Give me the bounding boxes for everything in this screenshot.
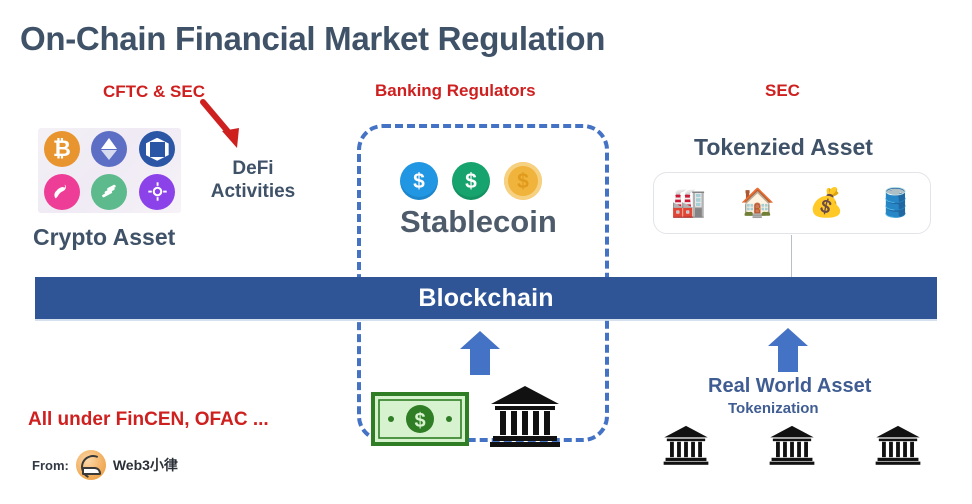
author-name: Web3小律 <box>113 455 178 475</box>
regulator-label-sec: SEC <box>765 81 800 101</box>
oil-pump-icon: 🛢️ <box>878 189 913 217</box>
stablecoin-green-icon: $ <box>452 162 490 200</box>
blockchain-bar: Blockchain <box>35 277 937 319</box>
real-world-asset-subtitle: Tokenization <box>728 400 819 417</box>
red-diagonal-arrow-icon <box>197 98 247 154</box>
defi-line-1: DeFi <box>205 157 301 180</box>
page-title: On-Chain Financial Market Regulation <box>20 20 605 58</box>
real-world-asset-bank-row <box>663 424 921 466</box>
house-icon: 🏠 <box>740 189 775 217</box>
crypto-asset-icon-grid: ₿ <box>38 128 181 213</box>
stablecoin-label: Stablecoin <box>400 204 557 240</box>
stablecoin-icon-row: $ $ $ <box>400 162 566 200</box>
gold-bars-icon: 💰 <box>809 189 844 217</box>
stablecoin-blue-icon: $ <box>400 162 438 200</box>
tokenized-asset-box: 🏭 🏠 💰 🛢️ <box>653 172 931 234</box>
author-avatar <box>76 450 106 480</box>
blue-up-arrow-icon-center <box>459 330 501 376</box>
real-world-asset-title: Real World Asset <box>708 375 871 398</box>
tokenized-asset-connector-line <box>791 235 792 279</box>
bank-building-icon-1 <box>663 424 709 466</box>
bank-building-icon-center <box>489 384 561 448</box>
regulator-label-cftc-sec: CFTC & SEC <box>103 82 205 102</box>
blue-up-arrow-icon-right <box>767 327 809 373</box>
defi-activities-label: DeFi Activities <box>205 157 301 203</box>
crypto-asset-label: Crypto Asset <box>33 224 175 251</box>
thegraph-icon <box>139 174 175 210</box>
ethereum-icon <box>91 131 127 167</box>
fincen-ofac-label: All under FinCEN, OFAC ... <box>28 409 269 431</box>
blockchain-label: Blockchain <box>418 284 553 313</box>
svg-text:$: $ <box>414 410 425 432</box>
tokenized-asset-label: Tokenzied Asset <box>694 134 873 161</box>
chainlink-icon <box>139 131 175 167</box>
regulator-label-banking: Banking Regulators <box>375 81 536 101</box>
bank-building-icon-3 <box>875 424 921 466</box>
defi-line-2: Activities <box>205 180 301 203</box>
credit-row: From: Web3小律 <box>32 450 178 480</box>
uniswap-icon <box>44 174 80 210</box>
bank-building-icon-2 <box>769 424 815 466</box>
credit-from-label: From: <box>32 458 69 473</box>
bitcoin-icon: ₿ <box>44 131 80 167</box>
stablecoin-gold-icon: $ <box>504 162 542 200</box>
dollar-bill-icon: $ <box>371 392 469 446</box>
compound-icon <box>91 174 127 210</box>
factory-icon: 🏭 <box>671 189 706 217</box>
